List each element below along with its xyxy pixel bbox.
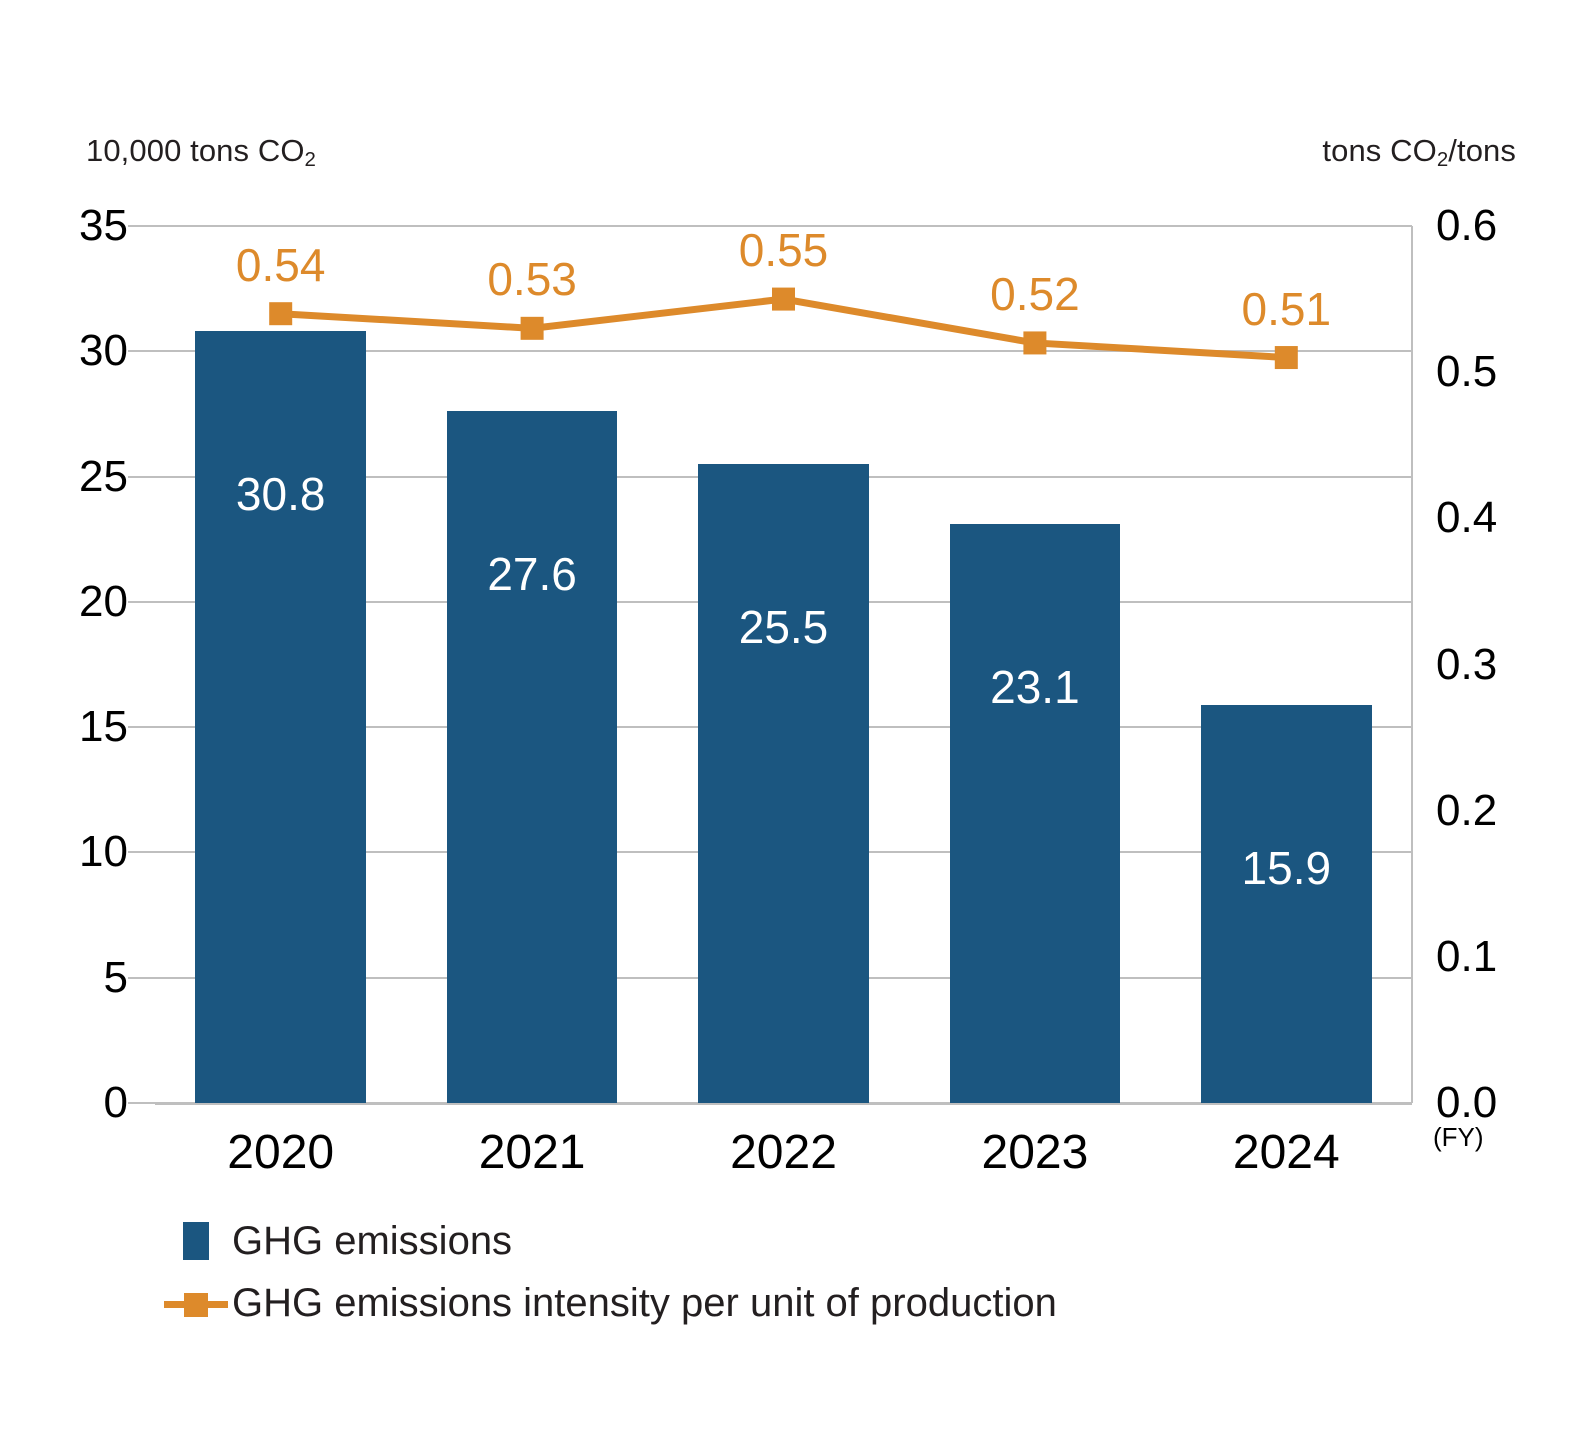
line-swatch-icon	[160, 1288, 232, 1318]
right-axis-tick: 0.1	[1436, 935, 1497, 979]
right-axis-tick: 0.3	[1436, 643, 1497, 687]
right-axis-tick: 0.2	[1436, 789, 1497, 833]
ghg-emissions-chart: 10,000 tons CO2 tons CO2/tons 3530252015…	[0, 0, 1590, 1440]
right-axis-tick: 0.5	[1436, 350, 1497, 394]
legend: GHG emissions GHG emissions intensity pe…	[160, 1210, 1057, 1334]
plot-area	[155, 226, 1412, 1103]
line-marker-2023	[1023, 331, 1046, 354]
left-axis-tick-mark	[128, 350, 156, 352]
left-axis-tick: 5	[8, 956, 128, 1000]
left-axis-tick-mark	[128, 851, 156, 853]
right-axis-unit-text-pre: tons CO	[1322, 133, 1436, 168]
legend-item-ghg-intensity: GHG emissions intensity per unit of prod…	[160, 1272, 1057, 1334]
legend-label-ghg-intensity: GHG emissions intensity per unit of prod…	[232, 1283, 1057, 1323]
bar-value-label-2022: 25.5	[739, 604, 829, 650]
line-value-label-2024: 0.51	[1242, 286, 1332, 332]
line-marker-2020	[269, 302, 292, 325]
bar-value-label-2020: 30.8	[236, 471, 326, 517]
left-axis-tick: 0	[8, 1081, 128, 1125]
legend-label-ghg-emissions: GHG emissions	[232, 1221, 512, 1261]
line-value-label-2023: 0.52	[990, 271, 1080, 317]
bar-value-label-2021: 27.6	[487, 551, 577, 597]
left-axis-tick: 30	[8, 329, 128, 373]
left-axis-tick: 35	[8, 204, 128, 248]
left-axis-unit-text: 10,000 tons CO	[86, 133, 305, 168]
bar-swatch-icon	[160, 1222, 232, 1260]
fiscal-year-note: (FY)	[1433, 1122, 1484, 1153]
left-axis-tick: 20	[8, 580, 128, 624]
left-axis-tick: 15	[8, 705, 128, 749]
category-label-2022: 2022	[730, 1129, 837, 1177]
category-label-2021: 2021	[479, 1129, 586, 1177]
right-axis-tick: 0.4	[1436, 496, 1497, 540]
left-axis-tick: 25	[8, 455, 128, 499]
line-series	[155, 226, 1412, 1103]
bar-value-label-2023: 23.1	[990, 664, 1080, 710]
left-axis-tick-mark	[128, 476, 156, 478]
left-axis-unit-label: 10,000 tons CO2	[86, 133, 316, 169]
left-axis-tick: 10	[8, 830, 128, 874]
line-marker-2022	[772, 288, 795, 311]
right-axis-unit-text-post: /tons	[1448, 133, 1516, 168]
right-axis-tick: 0.6	[1436, 204, 1497, 248]
line-marker-2021	[521, 317, 544, 340]
left-axis-tick-mark	[128, 977, 156, 979]
left-axis-tick-mark	[128, 1102, 156, 1104]
right-axis-tick: 0.0	[1436, 1081, 1497, 1125]
left-axis-tick-mark	[128, 601, 156, 603]
line-value-label-2022: 0.55	[739, 227, 829, 273]
line-value-label-2020: 0.54	[236, 242, 326, 288]
right-axis-unit-label: tons CO2/tons	[1322, 133, 1516, 169]
line-value-label-2021: 0.53	[487, 256, 577, 302]
left-axis-tick-mark	[128, 726, 156, 728]
left-axis-tick-mark	[128, 225, 156, 227]
left-axis-unit-subscript: 2	[305, 148, 316, 171]
legend-item-ghg-emissions: GHG emissions	[160, 1210, 1057, 1272]
bar-value-label-2024: 15.9	[1242, 845, 1332, 891]
category-label-2023: 2023	[982, 1129, 1089, 1177]
category-label-2020: 2020	[227, 1129, 334, 1177]
right-axis-unit-subscript: 2	[1437, 148, 1448, 171]
line-marker-2024	[1275, 346, 1298, 369]
category-label-2024: 2024	[1233, 1129, 1340, 1177]
